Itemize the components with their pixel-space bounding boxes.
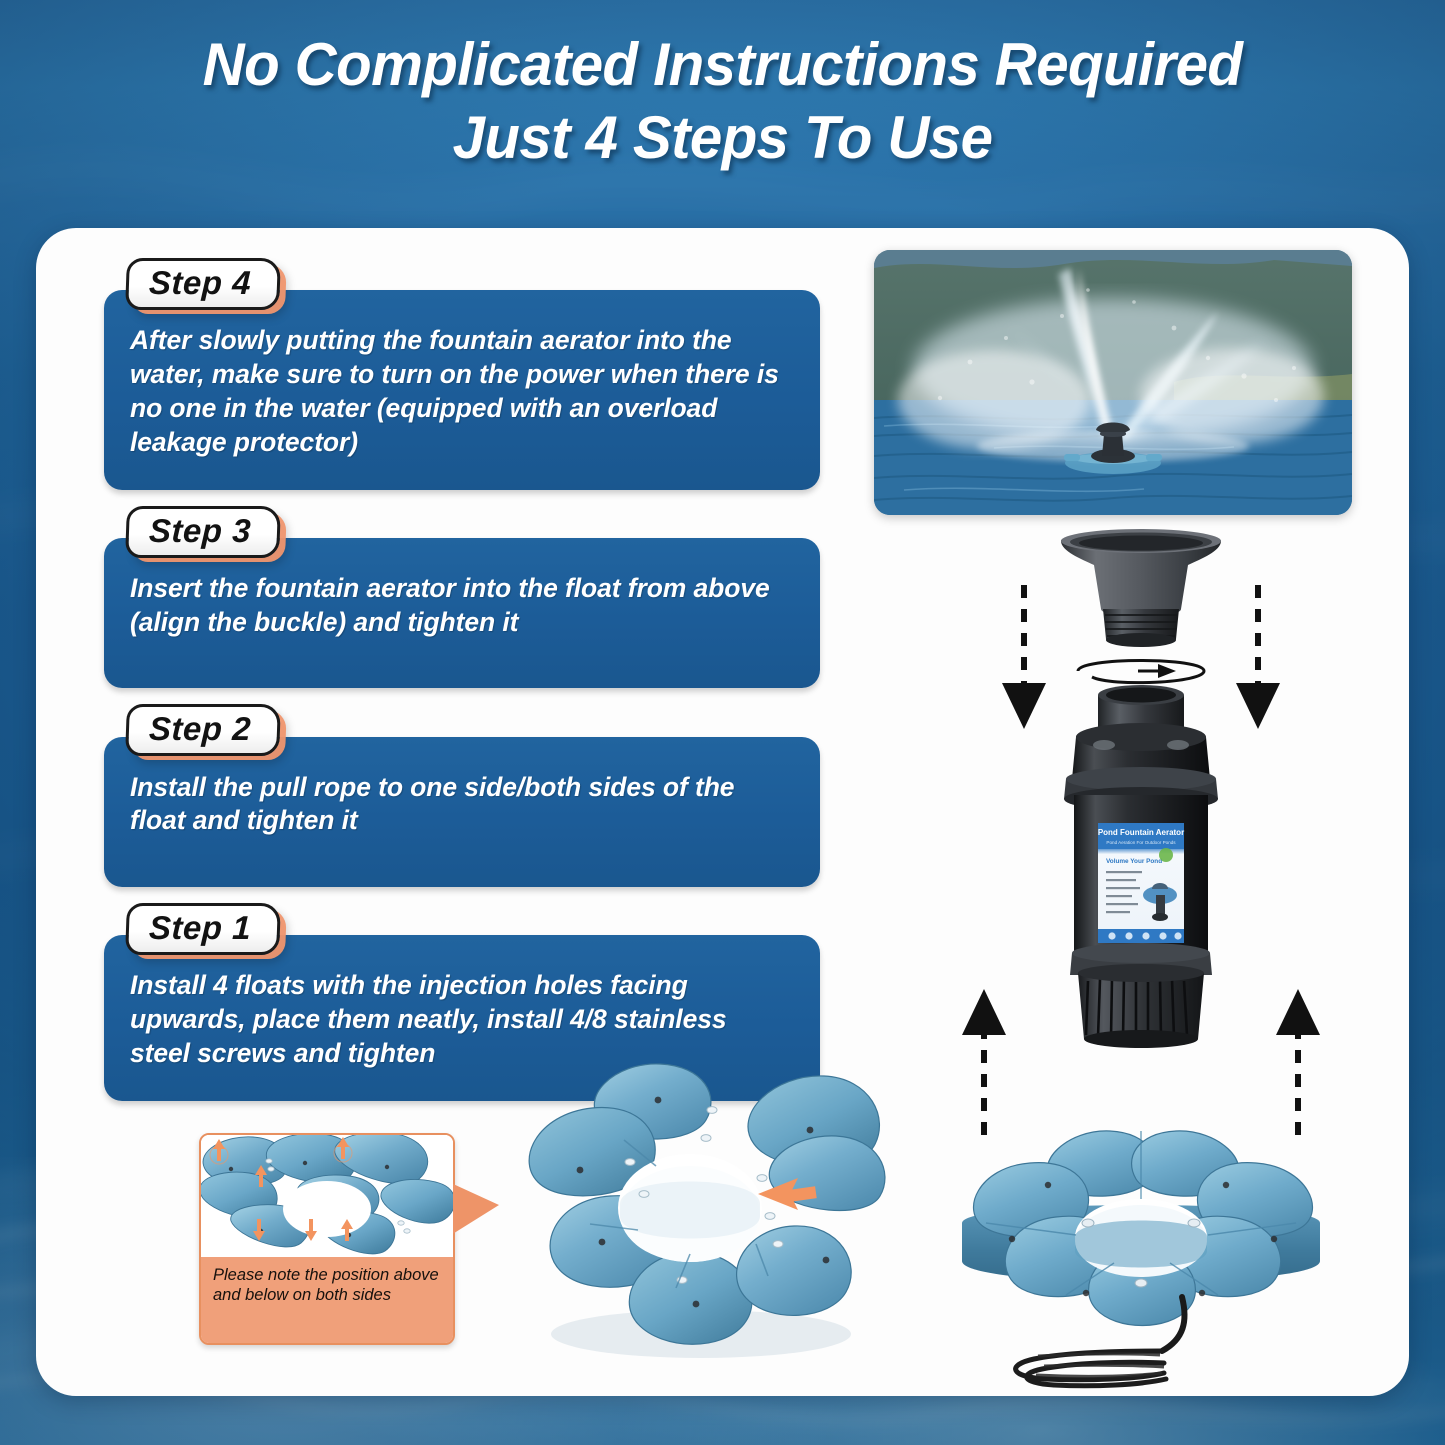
rotate-arrow-head — [1158, 664, 1176, 678]
step-text-2: Install the pull rope to one side/both s… — [104, 737, 820, 887]
down-arrow-head-right — [1236, 683, 1280, 729]
assembly-diagram: Pond Fountain Aerator Pond Aeration For … — [926, 523, 1356, 1383]
up-arrow-head-right — [1276, 989, 1320, 1035]
callout-tail — [451, 1183, 499, 1235]
svg-text:Volume Your Pond: Volume Your Pond — [1106, 858, 1162, 865]
page-title: No Complicated Instructions Required Jus… — [22, 28, 1424, 174]
pump-body: Pond Fountain Aerator Pond Aeration For … — [1064, 685, 1218, 1048]
step-item-3: Step 3 Insert the fountain aerator into … — [104, 506, 820, 688]
step-text-3: Insert the fountain aerator into the flo… — [104, 538, 820, 688]
float-ring-assembled — [962, 1131, 1320, 1326]
step-item-4: Step 4 After slowly putting the fountain… — [104, 258, 820, 490]
step-badge-4: Step 4 — [125, 258, 281, 310]
step-badge-2: Step 2 — [125, 704, 281, 756]
float-detail-photo — [201, 1135, 453, 1257]
product-label: Pond Fountain Aerator Pond Aeration For … — [1098, 823, 1184, 943]
up-arrow-head-left — [962, 989, 1006, 1035]
infographic-page: No Complicated Instructions Required Jus… — [0, 0, 1445, 1445]
fountain-photo — [874, 250, 1352, 515]
header: No Complicated Instructions Required Jus… — [0, 0, 1445, 218]
rotate-arrow-icon — [1078, 661, 1204, 683]
step-item-2: Step 2 Install the pull rope to one side… — [104, 704, 820, 886]
svg-text:Pond Fountain Aerator: Pond Fountain Aerator — [1098, 828, 1184, 837]
step-badge-3: Step 3 — [125, 506, 281, 558]
note-callout: Please note the position above and below… — [199, 1133, 455, 1345]
steps-list: Step 4 After slowly putting the fountain… — [104, 258, 820, 1117]
nozzle-part — [1061, 529, 1221, 647]
content-card: Step 4 After slowly putting the fountain… — [36, 228, 1409, 1396]
step-text-4: After slowly putting the fountain aerato… — [104, 290, 820, 490]
note-text: Please note the position above and below… — [201, 1257, 453, 1343]
svg-text:Pond Aeration For Outdoor Pond: Pond Aeration For Outdoor Ponds — [1106, 840, 1176, 845]
float-assembly-photo — [506, 1048, 896, 1378]
down-arrow-head-left — [1002, 683, 1046, 729]
step-badge-1: Step 1 — [125, 903, 281, 955]
